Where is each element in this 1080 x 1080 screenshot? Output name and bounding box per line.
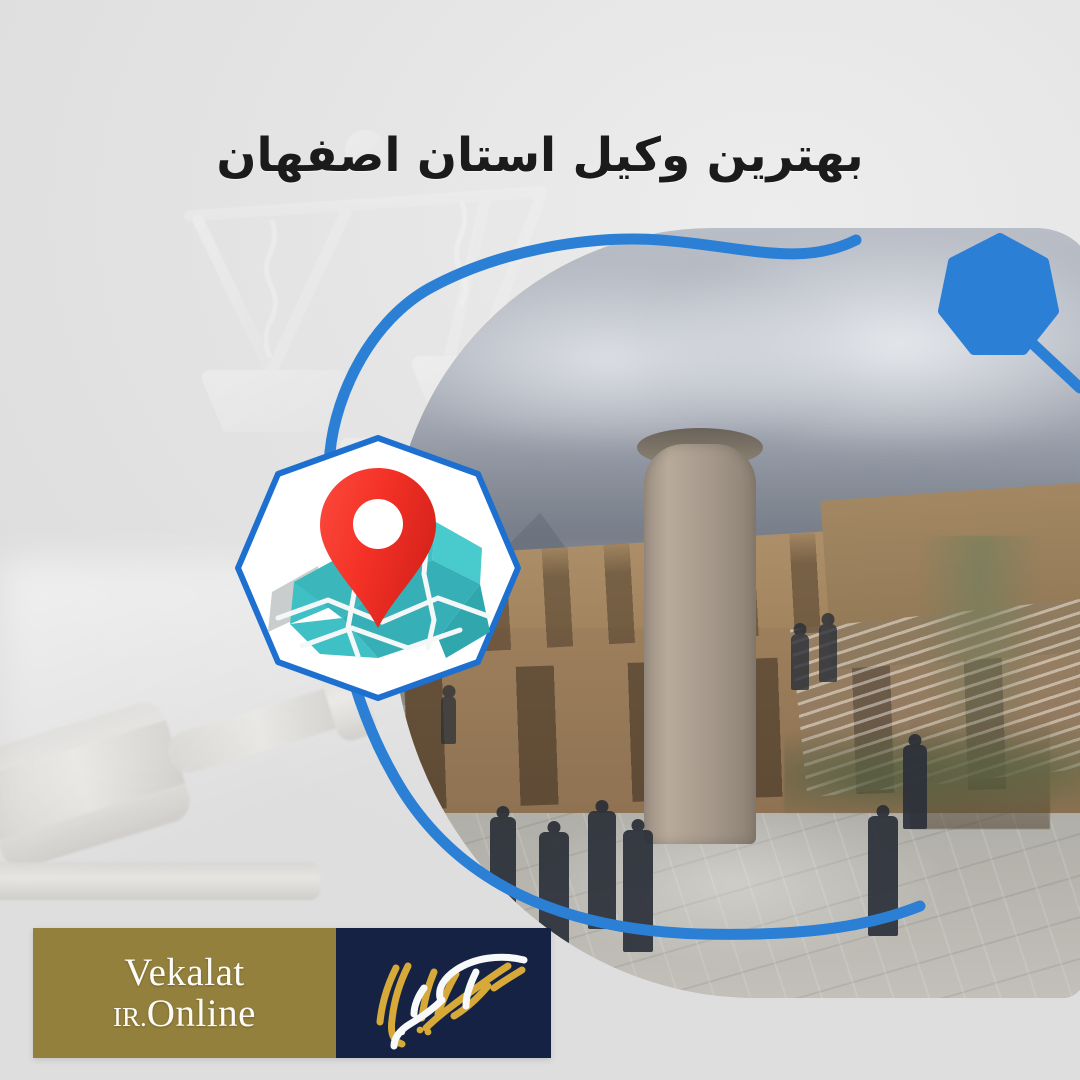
photo-tower [644, 444, 756, 844]
photo-shrubs [784, 721, 1080, 813]
logo-online-text: Online [147, 993, 256, 1034]
poster-canvas: بهترین وکیل استان اصفهان [0, 0, 1080, 1080]
vekalat-online-calligraphy-icon [336, 928, 551, 1058]
photo-cloud [637, 228, 1080, 459]
photo-person [868, 816, 898, 936]
photo-person [623, 830, 653, 952]
logo-wordmark: Vekalat Online.IR [33, 928, 336, 1058]
photo-person [490, 817, 516, 913]
logo-tld-text: .IR [113, 1003, 147, 1032]
logo-line-one: Vekalat [124, 952, 244, 993]
logo-line-two: Online.IR [113, 993, 256, 1034]
photo-person [588, 811, 616, 929]
page-title: بهترین وکیل استان اصفهان [0, 127, 1080, 186]
logo-calligraphy-mark [336, 928, 551, 1058]
map-location-badge[interactable] [232, 432, 524, 704]
photo-person [903, 745, 927, 829]
photo-person [819, 624, 837, 682]
site-logo[interactable]: Vekalat Online.IR [33, 928, 551, 1058]
photo-person [791, 634, 809, 690]
